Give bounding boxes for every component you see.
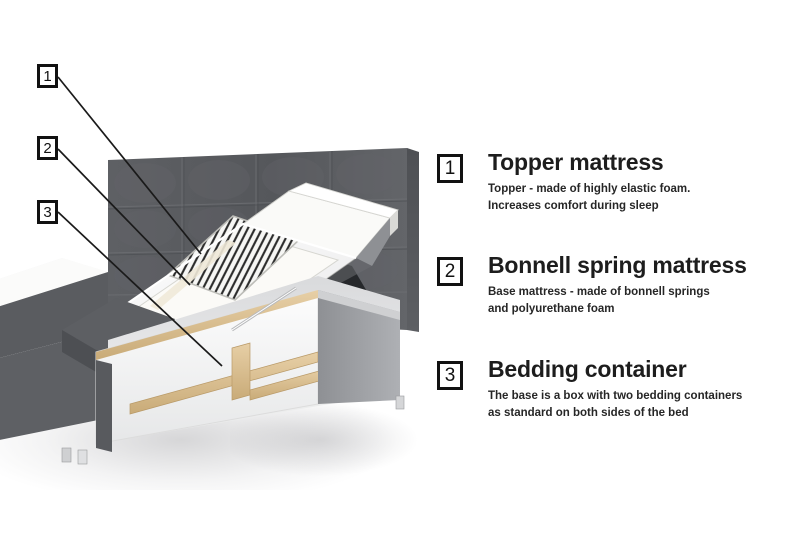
legend-number-1: 1 [437,154,463,183]
marker-3[interactable]: 3 [37,200,58,224]
infographic-canvas: 1 2 3 1 Topper mattress Topper - made of… [0,0,800,533]
legend-description-3-line-2: as standard on both sides of the bed [488,405,742,422]
legend-item-bedding-container: 3 Bedding container The base is a box wi… [437,357,742,421]
legend-title-2: Bonnell spring mattress [488,253,747,277]
legend-text-block-2: Bonnell spring mattress Base mattress - … [488,253,747,317]
legend-description-1: Topper - made of highly elastic foam. In… [488,181,690,214]
legend-description-1-line-1: Topper - made of highly elastic foam. [488,181,690,198]
legend-text-block-3: Bedding container The base is a box with… [488,357,742,421]
legend-number-2: 2 [437,257,463,286]
legend-title-1: Topper mattress [488,150,690,174]
legend-number-3: 3 [437,361,463,390]
marker-1[interactable]: 1 [37,64,58,88]
legend-description-3-line-1: The base is a box with two bedding conta… [488,388,742,405]
legend-description-2-line-1: Base mattress - made of bonnell springs [488,284,747,301]
legend-title-3: Bedding container [488,357,742,381]
legend-item-bonnell-spring-mattress: 2 Bonnell spring mattress Base mattress … [437,253,747,317]
legend-description-2: Base mattress - made of bonnell springs … [488,284,747,317]
legend-description-1-line-2: Increases comfort during sleep [488,198,690,215]
bed-cutaway-illustration [0,0,440,533]
legend-description-2-line-2: and polyurethane foam [488,301,747,318]
marker-2[interactable]: 2 [37,136,58,160]
legend-item-topper-mattress: 1 Topper mattress Topper - made of highl… [437,150,690,214]
legend-text-block-1: Topper mattress Topper - made of highly … [488,150,690,214]
legend-description-3: The base is a box with two bedding conta… [488,388,742,421]
